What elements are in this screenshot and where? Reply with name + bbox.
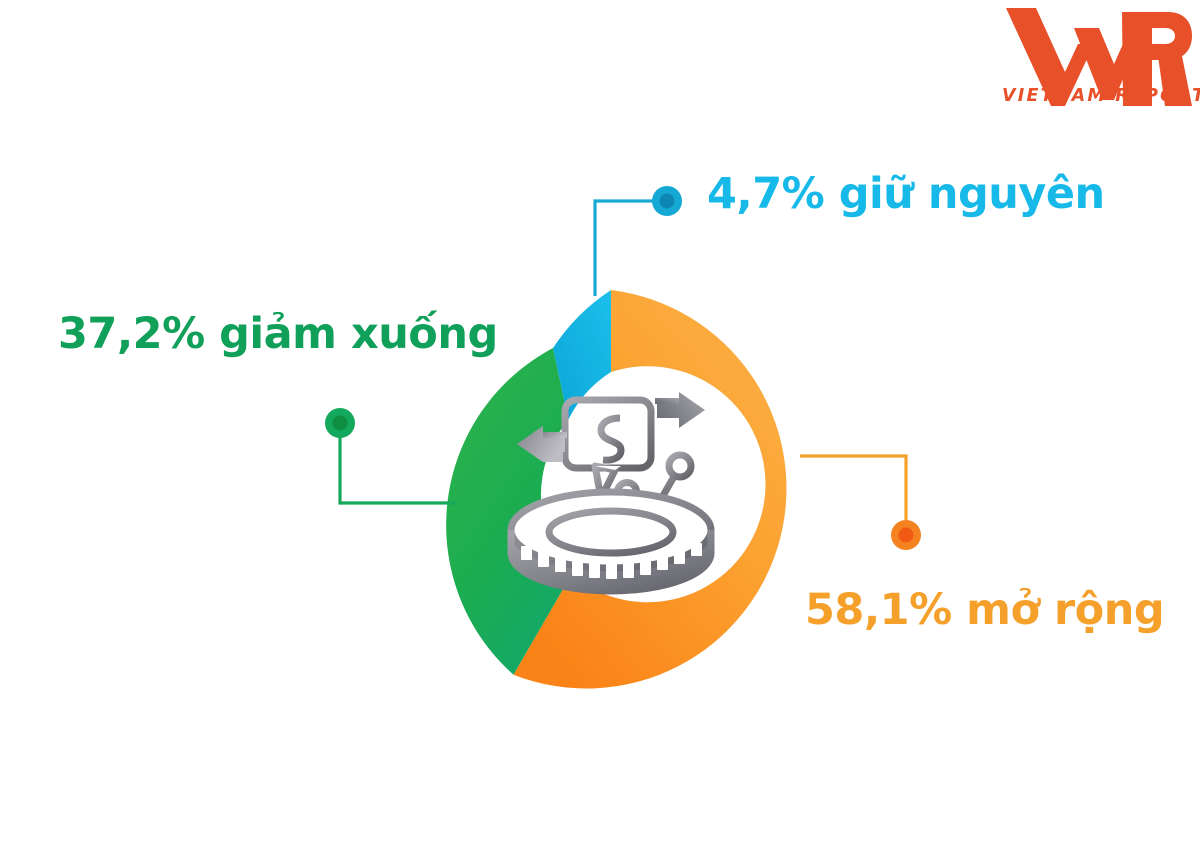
right-arrow-icon xyxy=(655,392,705,428)
slice-label-expand: 58,1% mở rộng xyxy=(805,589,1164,632)
callout-dot-keep-core xyxy=(660,194,675,209)
vnr-logo: VIETNAM REPORT xyxy=(1002,4,1192,110)
callout-dot-decrease[interactable] xyxy=(325,408,355,438)
callout-dot-keep[interactable] xyxy=(652,186,682,216)
dollar-speech-bubble xyxy=(565,400,651,498)
slice-label-decrease: 37,2% giảm xuống xyxy=(58,313,498,356)
left-arrow-icon xyxy=(517,426,567,462)
logo-wordmark: VIETNAM REPORT xyxy=(1002,86,1188,106)
money-exchange-growth-icon xyxy=(503,382,719,598)
slice-label-keep: 4,7% giữ nguyên xyxy=(707,173,1105,216)
callout-dot-decrease-core xyxy=(333,416,348,431)
callout-dot-expand-core xyxy=(899,528,914,543)
infographic-canvas: VIETNAM REPORT xyxy=(0,0,1200,849)
callout-dot-expand[interactable] xyxy=(891,520,921,550)
dollar-sign-glyph xyxy=(601,410,621,468)
coin-icon xyxy=(511,492,711,592)
